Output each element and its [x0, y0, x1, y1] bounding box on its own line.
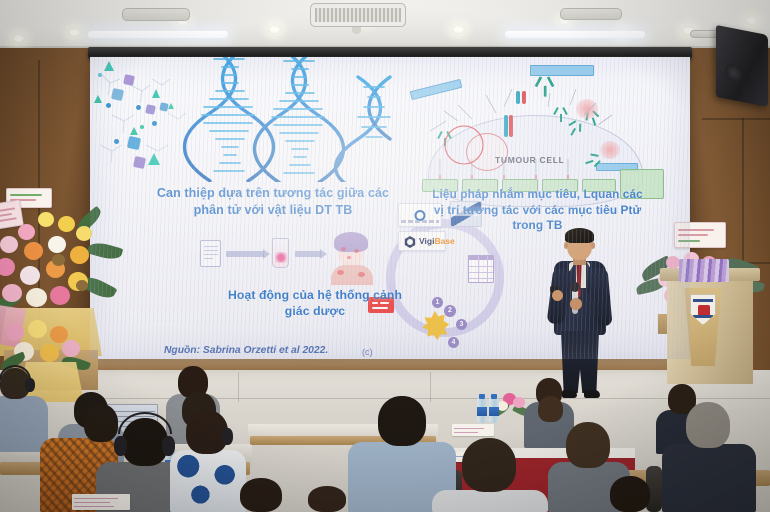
flower-bloom	[0, 236, 18, 253]
audience-head	[538, 396, 563, 422]
adverse-reaction-mark	[337, 270, 344, 275]
presenter-hand-right	[570, 298, 582, 310]
audience-head	[240, 478, 282, 512]
congratulations-card	[674, 222, 726, 248]
vigibase-wordmark: VigiBase	[419, 236, 455, 246]
notebook-papers	[452, 424, 494, 436]
slide-text-middle: Hoạt động của hệ thống cảnh giác dược	[220, 287, 410, 319]
downlight	[268, 25, 281, 34]
podium	[660, 268, 760, 386]
speaker-driver-icon	[725, 63, 742, 83]
flower-bloom	[40, 344, 59, 362]
wall-panel-seam	[702, 118, 770, 120]
adverse-reaction-mark	[358, 272, 365, 277]
headset-earcup	[222, 428, 233, 445]
adverse-reaction-mark	[354, 249, 359, 253]
flower-bloom	[2, 284, 22, 302]
patient-icon	[328, 232, 376, 284]
audience-body	[662, 444, 756, 512]
audience-head	[610, 476, 650, 512]
patient-hair	[334, 232, 368, 252]
flower-bloom	[513, 397, 525, 408]
air-conditioner-unit	[310, 3, 406, 27]
vigibase-text-accent: Base	[434, 236, 454, 246]
headset-earcup	[114, 436, 127, 456]
flower-bloom	[26, 288, 47, 307]
adverse-reaction-mark	[341, 247, 346, 251]
downlight	[745, 16, 758, 25]
headset-earcup	[162, 436, 175, 456]
air-vent	[122, 8, 190, 21]
audience-head	[462, 438, 516, 492]
audience-head	[686, 402, 730, 448]
dna-helix-svg	[152, 57, 392, 182]
slide-text-right: Liệu pháp nhắm mục tiêu, Lquan các vị tr…	[430, 187, 645, 234]
cycle-number-2: 2	[444, 305, 456, 317]
flower-bloom	[76, 226, 92, 241]
presenter-shoe	[584, 390, 600, 398]
crest-band	[693, 315, 713, 318]
cycle-number-1: 1	[432, 297, 443, 308]
cycle-number-4: 4	[448, 337, 459, 348]
flower-bloom	[0, 258, 15, 276]
vigibase-logo-card: VigiBase	[398, 231, 446, 251]
vigibase-text-dark: Vigi	[419, 236, 434, 246]
podium-floral-drape	[679, 259, 729, 282]
flow-arrow	[295, 251, 321, 257]
downlight	[68, 28, 81, 37]
patient-body	[331, 265, 373, 285]
led-strip-light	[505, 31, 645, 38]
presenter-shoe	[562, 390, 577, 398]
conference-photo: TUMOUR CELL	[0, 0, 770, 512]
wall-speaker	[716, 25, 768, 107]
audience-head	[566, 422, 610, 468]
flower-bloom	[28, 320, 47, 338]
audience-head	[308, 486, 346, 512]
headset-earcup	[25, 378, 35, 392]
sunflower-center	[76, 280, 88, 291]
data-table-icon	[468, 255, 494, 283]
crest-band	[693, 299, 713, 302]
air-vent	[560, 8, 622, 20]
led-strip-light	[88, 31, 228, 38]
presenter	[548, 228, 614, 406]
report-document-icon	[200, 240, 221, 267]
foliage-leaf	[87, 240, 124, 263]
audience-body	[0, 396, 48, 452]
flower-bloom	[62, 340, 80, 357]
downlight	[452, 25, 465, 34]
downlight	[12, 34, 25, 43]
tumour-cell-diagram: TUMOUR CELL	[400, 59, 690, 201]
slide-text-left: Can thiệp dựa trên tương tác giữa các ph…	[148, 185, 398, 218]
floor-tile-line	[0, 398, 770, 399]
presenter-trousers	[561, 331, 599, 393]
ac-sensor	[352, 27, 361, 34]
presenter-hand-left	[552, 290, 563, 301]
flower-bloom	[58, 216, 75, 232]
audience-body	[170, 450, 246, 512]
flower-bloom	[38, 212, 54, 227]
flower-bloom	[24, 242, 43, 260]
flow-arrow	[226, 251, 264, 257]
flower-bloom	[50, 286, 70, 305]
notebook-papers	[72, 494, 130, 510]
audience-head	[378, 396, 426, 446]
water-bottle	[477, 398, 487, 423]
sunflower-center	[52, 254, 65, 266]
microphone-head-icon	[570, 282, 580, 292]
audience-head	[84, 404, 118, 442]
flower-bloom	[48, 236, 66, 253]
pharmacovigilance-flow-graphic	[200, 232, 380, 290]
presenter-ear	[591, 242, 595, 249]
flower-bloom	[20, 266, 40, 285]
flower-bloom	[70, 246, 89, 264]
slide-source-citation: Nguồn: Sabrina Orzetti et al 2022.	[164, 345, 394, 356]
floor-tile-line	[238, 372, 239, 402]
flower-bloom	[6, 324, 24, 341]
vigibase-hex-icon	[404, 236, 416, 248]
flower-bloom	[18, 224, 35, 240]
adverse-reaction-mark	[347, 256, 351, 259]
drug-vial-icon	[272, 238, 289, 268]
presenter-ear	[564, 242, 568, 249]
table-header-row	[469, 256, 493, 260]
audience-body	[432, 490, 548, 512]
floor-tile-line	[430, 372, 431, 402]
slide-panel-marker: (c)	[362, 347, 373, 357]
cycle-number-3: 3	[456, 319, 467, 330]
water-bottle	[489, 398, 499, 423]
dna-helix-graphic	[152, 57, 392, 182]
